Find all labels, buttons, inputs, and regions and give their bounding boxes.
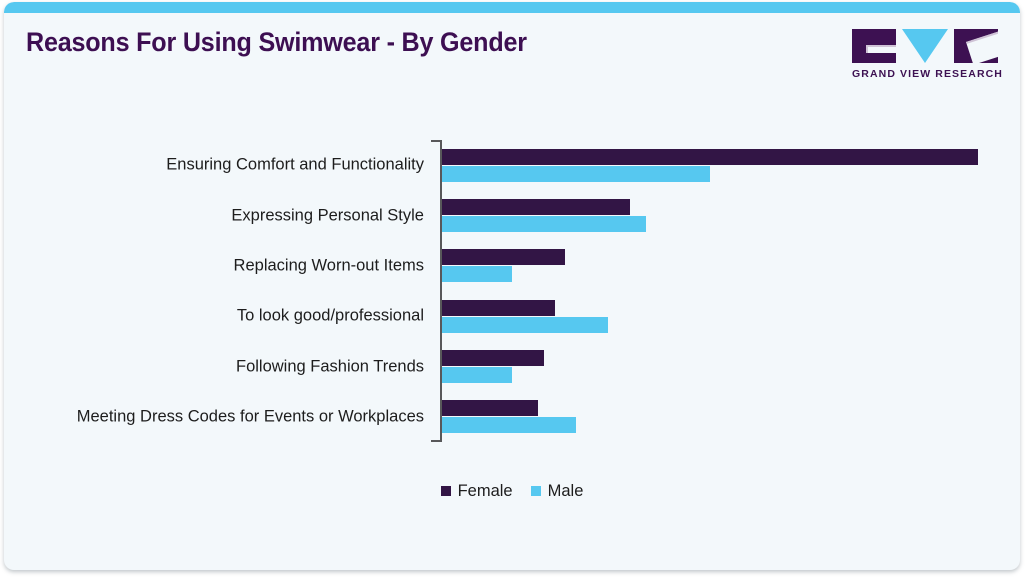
legend-label: Male <box>548 482 584 501</box>
bar-male <box>442 317 608 333</box>
category-label: Meeting Dress Codes for Events or Workpl… <box>32 407 424 426</box>
axis-tick-bottom <box>431 440 440 442</box>
category-label: Ensuring Comfort and Functionality <box>32 156 424 175</box>
bar-male <box>442 166 710 182</box>
category-axis-labels: Ensuring Comfort and FunctionalityExpres… <box>34 140 432 442</box>
bars-area <box>442 140 1002 442</box>
bar-chart-plot: Ensuring Comfort and FunctionalityExpres… <box>4 2 1020 570</box>
bar-female <box>442 350 544 366</box>
bar-female <box>442 149 978 165</box>
legend-item-male[interactable]: Male <box>531 482 584 501</box>
category-label: Expressing Personal Style <box>32 206 424 225</box>
chart-legend: FemaleMale <box>4 482 1020 501</box>
bar-male <box>442 367 512 383</box>
bar-male <box>442 417 576 433</box>
category-label: To look good/professional <box>32 307 424 326</box>
axis-tick-top <box>431 140 440 142</box>
legend-swatch-icon <box>441 486 451 496</box>
bar-male <box>442 216 646 232</box>
legend-item-female[interactable]: Female <box>441 482 513 501</box>
bar-female <box>442 300 555 316</box>
category-label: Following Fashion Trends <box>32 357 424 376</box>
chart-card: Reasons For Using Swimwear - By Gender G… <box>4 2 1020 570</box>
legend-swatch-icon <box>531 486 541 496</box>
category-label: Replacing Worn-out Items <box>32 256 424 275</box>
bar-female <box>442 199 630 215</box>
bar-female <box>442 400 538 416</box>
bar-male <box>442 266 512 282</box>
bar-female <box>442 249 565 265</box>
legend-label: Female <box>458 482 513 501</box>
